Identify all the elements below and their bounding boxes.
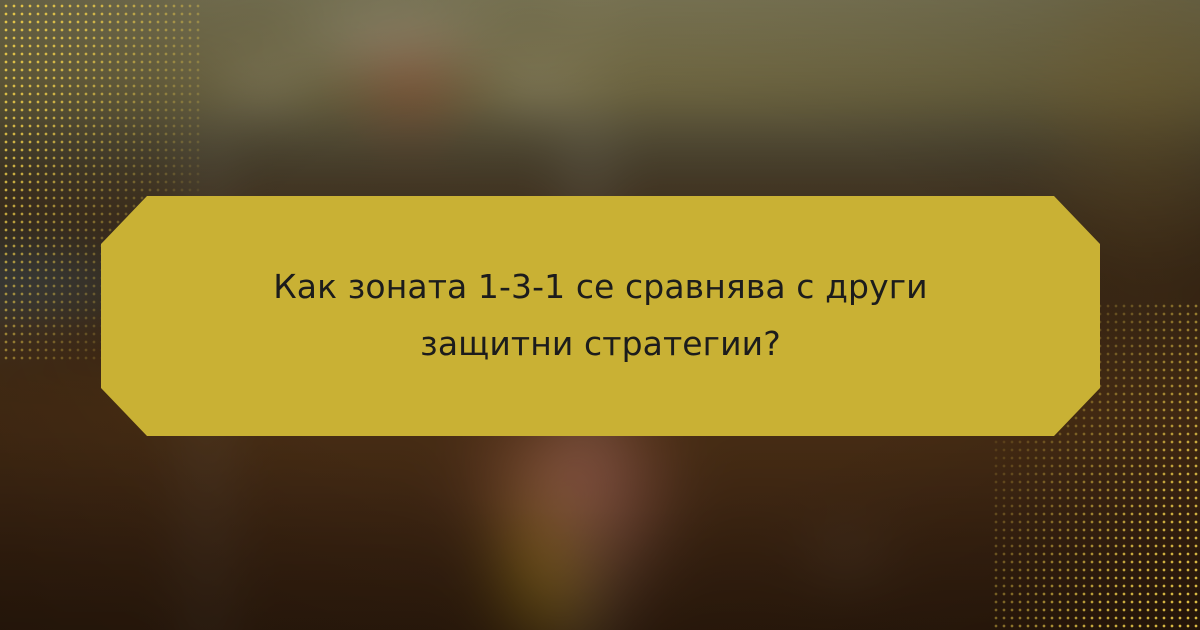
- quote-card-canvas: Как зоната 1-3-1 се сравнява с други защ…: [0, 0, 1200, 630]
- quote-card-panel: Как зоната 1-3-1 се сравнява с други защ…: [101, 196, 1100, 436]
- quote-text: Как зоната 1-3-1 се сравнява с други защ…: [101, 259, 1100, 373]
